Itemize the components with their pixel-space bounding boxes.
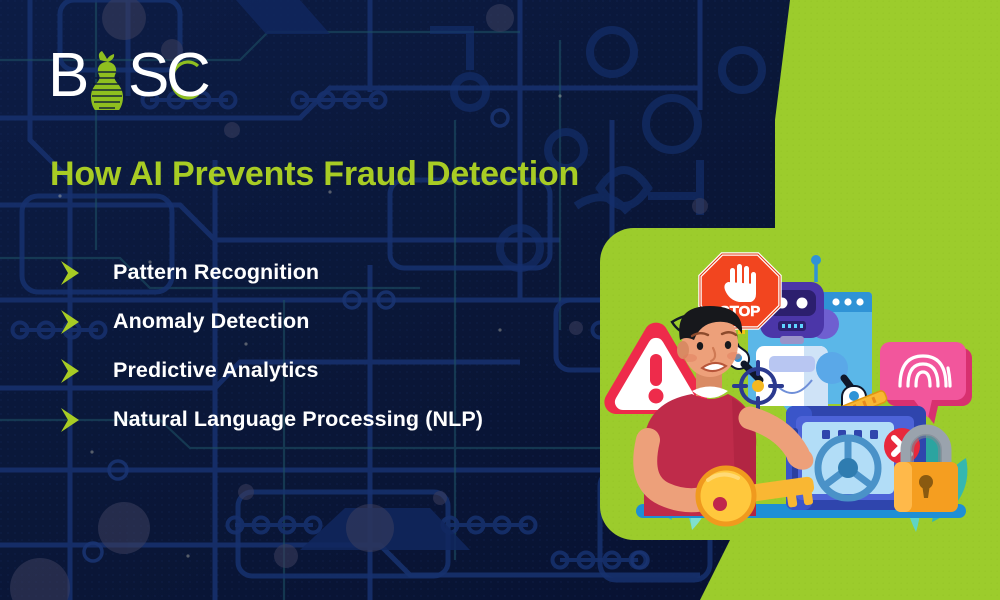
list-item-label: Natural Language Processing (NLP) <box>113 407 483 432</box>
list-item[interactable]: Pattern Recognition <box>55 248 615 297</box>
chevron-right-icon <box>55 356 91 386</box>
feature-list: Pattern Recognition Anomaly Detection Pr… <box>55 248 615 444</box>
ai-fraud-detection-illustration: STOP <box>600 228 1000 540</box>
brand-logo[interactable]: B S C <box>48 44 268 110</box>
logo-letter-s: S <box>128 44 169 110</box>
list-item-label: Predictive Analytics <box>113 358 319 383</box>
list-item[interactable]: Predictive Analytics <box>55 346 615 395</box>
list-item[interactable]: Natural Language Processing (NLP) <box>55 395 615 444</box>
chevron-right-icon <box>55 405 91 435</box>
bosc-logo-svg: B S C <box>48 44 268 110</box>
chevron-right-icon <box>55 307 91 337</box>
list-item[interactable]: Anomaly Detection <box>55 297 615 346</box>
list-item-label: Pattern Recognition <box>113 260 319 285</box>
illustration-svg: STOP <box>600 228 1000 540</box>
logo-letter-c: C <box>166 44 211 110</box>
logo-letter-b: B <box>48 44 89 110</box>
page-title: How AI Prevents Fraud Detection <box>50 155 579 194</box>
chevron-right-icon <box>55 258 91 288</box>
pear-icon <box>91 51 123 110</box>
svg-text:C: C <box>166 44 211 110</box>
list-item-label: Anomaly Detection <box>113 309 309 334</box>
